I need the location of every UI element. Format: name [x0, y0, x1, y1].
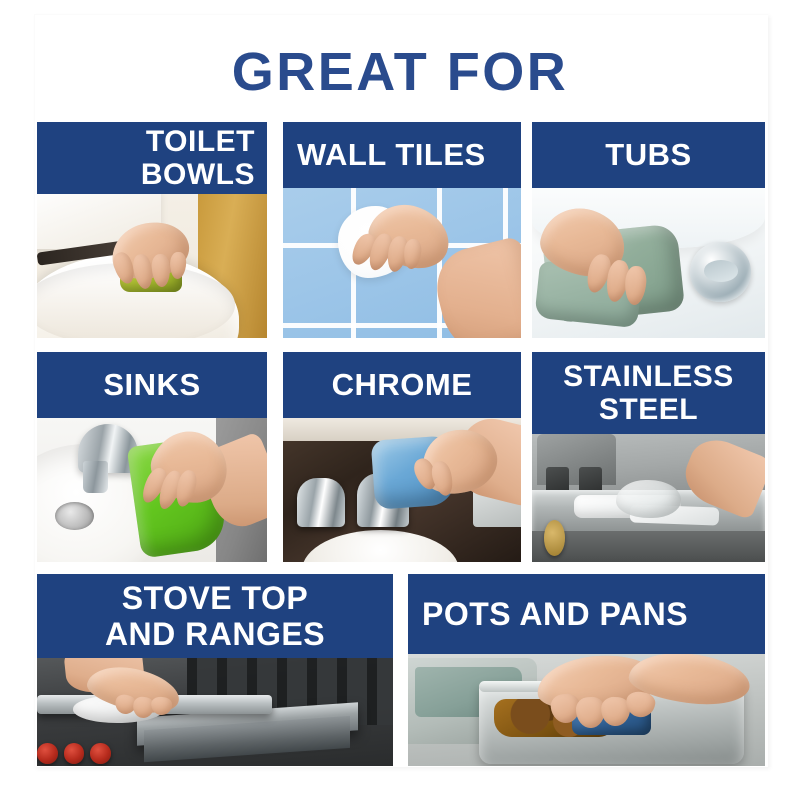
photo-knob — [90, 743, 111, 764]
tile-banner-tubs: TUBS — [532, 122, 765, 188]
tile-label-line: STAINLESS — [563, 360, 734, 393]
tile-label-line: STEEL — [599, 393, 698, 426]
photo-knob — [37, 743, 58, 764]
tile-chrome[interactable]: CHROME — [283, 352, 521, 562]
tile-label-line: SINKS — [103, 368, 200, 402]
tile-label-line: AND RANGES — [105, 616, 325, 652]
photo-knob — [544, 520, 565, 556]
tile-label-line: TUBS — [605, 138, 691, 172]
tile-banner-stainless-steel: STAINLESS STEEL — [532, 352, 765, 434]
tile-photo-stainless-steel — [532, 434, 765, 562]
tile-label-line: BOWLS — [141, 158, 255, 191]
photo-sink-bowl — [302, 530, 459, 562]
tile-photo-chrome — [283, 418, 521, 562]
photo-knob — [64, 743, 85, 764]
tile-tubs[interactable]: TUBS — [532, 122, 765, 338]
tile-banner-wall-tiles: WALL TILES — [283, 122, 521, 188]
tile-label-line: STOVE TOP — [122, 580, 308, 616]
photo-spout — [83, 461, 108, 493]
poster-canvas: GREAT FOR TOILET BOWLS WALL TILES — [0, 0, 800, 800]
photo-counter-front — [532, 531, 765, 562]
tile-label-line: WALL TILES — [297, 138, 486, 172]
tile-sinks[interactable]: SINKS — [37, 352, 267, 562]
tile-banner-chrome: CHROME — [283, 352, 521, 418]
tile-pots-and-pans[interactable]: POTS AND PANS — [408, 574, 765, 766]
tile-stove-top-and-ranges[interactable]: STOVE TOP AND RANGES — [37, 574, 393, 766]
tile-photo-sinks — [37, 418, 267, 562]
tile-toilet-bowls[interactable]: TOILET BOWLS — [37, 122, 267, 338]
tile-label-line: CHROME — [332, 368, 473, 402]
tile-label-line: POTS AND PANS — [422, 596, 688, 632]
photo-tub-drain — [690, 242, 751, 302]
tile-photo-toilet-bowls — [37, 194, 267, 338]
tile-banner-sinks: SINKS — [37, 352, 267, 418]
photo-faucet — [297, 478, 345, 527]
tile-stainless-steel[interactable]: STAINLESS STEEL — [532, 352, 765, 562]
photo-knob-row — [37, 738, 158, 764]
tile-banner-pots-and-pans: POTS AND PANS — [408, 574, 765, 654]
tile-banner-stove-top-and-ranges: STOVE TOP AND RANGES — [37, 574, 393, 658]
tile-photo-tubs — [532, 188, 765, 338]
photo-glove — [616, 480, 681, 518]
page-title: GREAT FOR — [0, 42, 800, 102]
tile-photo-pots-and-pans — [408, 654, 765, 766]
tile-wall-tiles[interactable]: WALL TILES — [283, 122, 521, 338]
tile-banner-toilet-bowls: TOILET BOWLS — [37, 122, 267, 194]
tile-photo-wall-tiles — [283, 188, 521, 338]
tile-photo-stove-top-and-ranges — [37, 658, 393, 766]
tile-label-line: TOILET — [146, 125, 255, 158]
